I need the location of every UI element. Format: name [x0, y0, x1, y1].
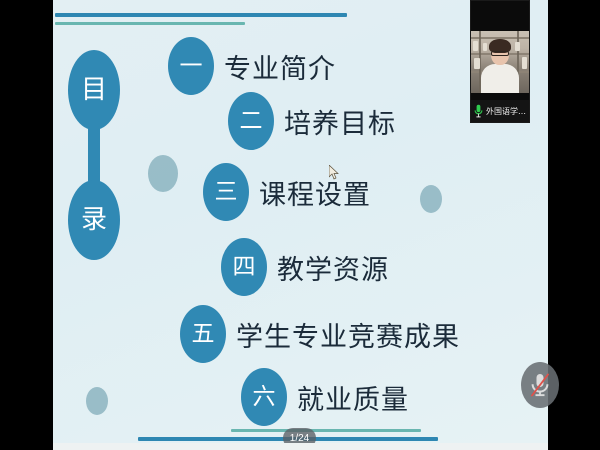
agenda-label-6: 就业质量 — [297, 378, 409, 417]
agenda-number-bubble-1: 一 — [168, 37, 214, 95]
shelf-object — [474, 58, 480, 69]
top-blue-rule — [55, 13, 347, 17]
agenda-item-2[interactable]: 二 培养目标 — [228, 92, 396, 150]
agenda-label-3: 课程设置 — [259, 173, 371, 212]
agenda-label-1: 专业简介 — [224, 47, 336, 86]
participant-name-label: 外国语学… — [486, 106, 526, 117]
agenda-label-5: 学生专业竞赛成果 — [236, 315, 460, 354]
participant-glasses — [491, 51, 509, 56]
agenda-number-5: 五 — [192, 323, 215, 346]
video-feed — [471, 31, 529, 93]
agenda-label-4: 教学资源 — [277, 248, 389, 287]
slide-bottom-edge — [53, 443, 548, 450]
shelf-object — [473, 41, 478, 51]
table-of-contents-badge: 目 录 — [68, 50, 120, 260]
agenda-number-bubble-5: 五 — [180, 305, 226, 363]
agenda-number-bubble-3: 三 — [203, 163, 249, 221]
decorative-circle — [86, 387, 108, 415]
toc-char-top: 目 — [81, 77, 107, 103]
top-teal-rule — [55, 22, 245, 25]
agenda-item-1[interactable]: 一 专业简介 — [168, 37, 336, 95]
screen-share-view: 目 录 一 专业简介 二 培养目标 三 课程设置 — [0, 0, 600, 450]
agenda-item-6[interactable]: 六 就业质量 — [241, 368, 409, 426]
agenda-number-3: 三 — [215, 181, 238, 204]
agenda-number-4: 四 — [233, 256, 256, 279]
toc-lobe-bottom: 录 — [68, 180, 120, 260]
agenda-number-bubble-4: 四 — [221, 238, 267, 296]
agenda-item-3[interactable]: 三 课程设置 — [203, 163, 371, 221]
agenda-number-bubble-6: 六 — [241, 368, 287, 426]
bottom-teal-rule — [231, 429, 421, 432]
toc-lobe-top: 目 — [68, 50, 120, 130]
decorative-circle — [148, 155, 178, 192]
agenda-item-4[interactable]: 四 教学资源 — [221, 238, 389, 296]
slide-page-indicator: 1/24 — [283, 428, 316, 443]
agenda-number-bubble-2: 二 — [228, 92, 274, 150]
shelf-object — [522, 57, 527, 69]
agenda-label-2: 培养目标 — [284, 102, 396, 141]
microphone-muted-icon — [529, 372, 551, 398]
shelf-object — [515, 42, 520, 51]
shelf-object — [483, 43, 487, 51]
mute-indicator[interactable] — [521, 362, 559, 408]
microphone-icon — [474, 104, 483, 118]
participant-name-bar: 外国语学… — [471, 100, 529, 122]
toc-char-bottom: 录 — [81, 207, 107, 233]
participant-video-thumbnail[interactable]: 外国语学… — [470, 0, 530, 123]
agenda-number-2: 二 — [240, 110, 263, 133]
agenda-number-1: 一 — [180, 55, 203, 78]
participant-body — [481, 64, 519, 93]
agenda-item-5[interactable]: 五 学生专业竞赛成果 — [180, 305, 460, 363]
agenda-number-6: 六 — [253, 386, 276, 409]
decorative-circle — [420, 185, 442, 213]
